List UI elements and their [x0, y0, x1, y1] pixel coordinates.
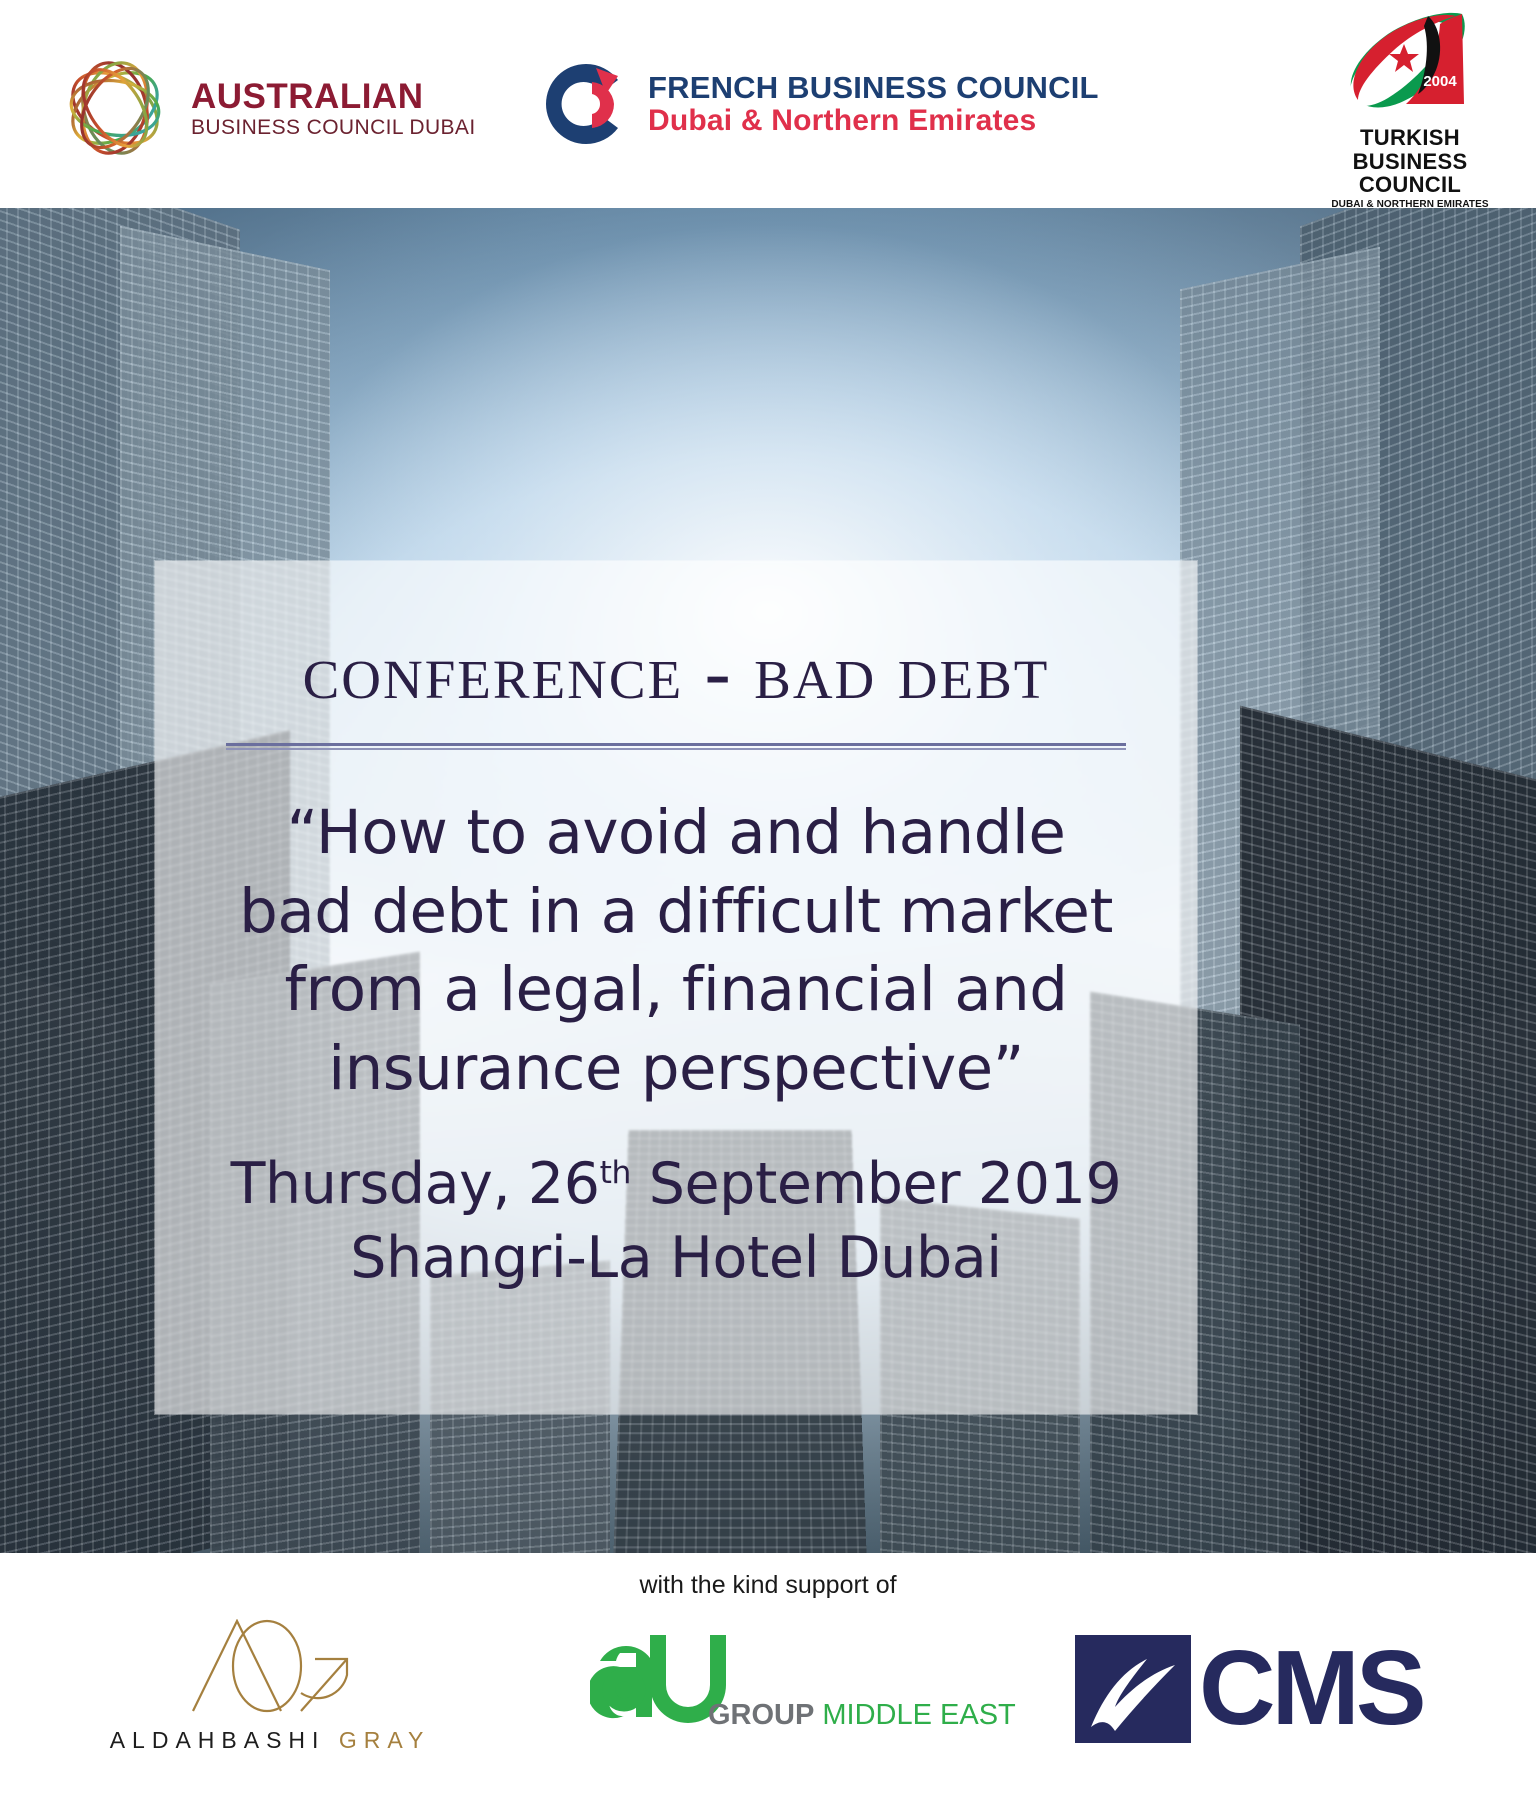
- au-group-text: GROUP: [708, 1699, 814, 1731]
- sponsor-logo-row: ALDAHBASHI GRAY GROUP MIDDLE EAST: [0, 1617, 1536, 1787]
- conference-date: Thursday, 26th September 2019: [231, 1147, 1122, 1221]
- au-group-tagline: GROUP MIDDLE EAST: [708, 1699, 1016, 1732]
- turkish-council-line1: TURKISH: [1310, 126, 1510, 150]
- quote-line-2: bad debt in a difficult market: [186, 873, 1166, 952]
- logo-australian-business-council-dubai: AUSTRALIAN BUSINESS COUNCIL DUBAI: [55, 48, 476, 168]
- conference-poster: AUSTRALIAN BUSINESS COUNCIL DUBAI FRENCH…: [0, 0, 1536, 1793]
- conference-info-card: Conference - Bad Debt “How to avoid and …: [155, 561, 1197, 1414]
- turkish-council-line4: DUBAI & NORTHERN EMIRATES: [1310, 199, 1510, 210]
- aldahbashi-gray-monogram-icon: [175, 1619, 365, 1717]
- au-middle-east-text: MIDDLE EAST: [814, 1699, 1015, 1731]
- french-council-line2: Dubai & Northern Emirates: [648, 105, 1099, 137]
- conference-quote: “How to avoid and handle bad debt in a d…: [186, 794, 1166, 1109]
- australian-council-line1: AUSTRALIAN: [191, 79, 476, 114]
- title-divider: [226, 743, 1126, 750]
- turkish-council-line2: BUSINESS: [1310, 150, 1510, 174]
- date-ordinal: th: [600, 1155, 631, 1191]
- conference-date-venue: Thursday, 26th September 2019 Shangri-La…: [231, 1147, 1122, 1295]
- support-label: with the kind support of: [0, 1571, 1536, 1600]
- cms-swoosh-icon: [1075, 1635, 1191, 1743]
- quote-line-4: insurance perspective”: [186, 1030, 1166, 1109]
- hero-photo-background: Conference - Bad Debt “How to avoid and …: [0, 208, 1536, 1553]
- logo-au-group-middle-east: GROUP MIDDLE EAST: [590, 1627, 970, 1723]
- french-council-wordmark: FRENCH BUSINESS COUNCIL Dubai & Northern…: [648, 71, 1099, 137]
- gray-text: GRAY: [339, 1727, 430, 1753]
- turkish-council-year: 2004: [1423, 73, 1457, 90]
- logo-turkish-business-council: 2004 TURKISH BUSINESS COUNCIL DUBAI & NO…: [1310, 8, 1510, 210]
- conference-title: Conference - Bad Debt: [303, 633, 1050, 711]
- quote-line-1: “How to avoid and handle: [186, 794, 1166, 873]
- logo-cms: CMS: [1075, 1635, 1423, 1743]
- cms-wordmark: CMS: [1199, 1641, 1423, 1736]
- organizer-logo-bar: AUSTRALIAN BUSINESS COUNCIL DUBAI FRENCH…: [0, 0, 1536, 208]
- logo-french-business-council: FRENCH BUSINESS COUNCIL Dubai & Northern…: [540, 58, 1099, 150]
- orbit-rings-svg: [55, 48, 175, 168]
- australian-council-wordmark: AUSTRALIAN BUSINESS COUNCIL DUBAI: [191, 79, 476, 138]
- turkish-council-line3: COUNCIL: [1310, 173, 1510, 197]
- quote-line-3: from a legal, financial and: [186, 951, 1166, 1030]
- date-suffix: September 2019: [631, 1151, 1121, 1217]
- conference-venue: Shangri-La Hotel Dubai: [231, 1221, 1122, 1295]
- date-prefix: Thursday, 26: [231, 1151, 600, 1217]
- aldahbashi-text: ALDAHBASHI: [110, 1727, 326, 1753]
- french-council-line1: FRENCH BUSINESS COUNCIL: [648, 71, 1099, 104]
- french-c-svg: [540, 58, 632, 150]
- logo-aldahbashi-gray: ALDAHBASHI GRAY: [70, 1619, 470, 1754]
- sponsor-footer: with the kind support of ALDAHBASHI GRAY: [0, 1553, 1536, 1793]
- australian-council-line2: BUSINESS COUNCIL DUBAI: [191, 117, 476, 138]
- french-council-c-icon: [540, 58, 632, 150]
- turkish-council-crescent-icon: 2004: [1344, 8, 1476, 126]
- australian-council-orbit-icon: [55, 48, 175, 168]
- aldahbashi-gray-wordmark: ALDAHBASHI GRAY: [70, 1727, 470, 1754]
